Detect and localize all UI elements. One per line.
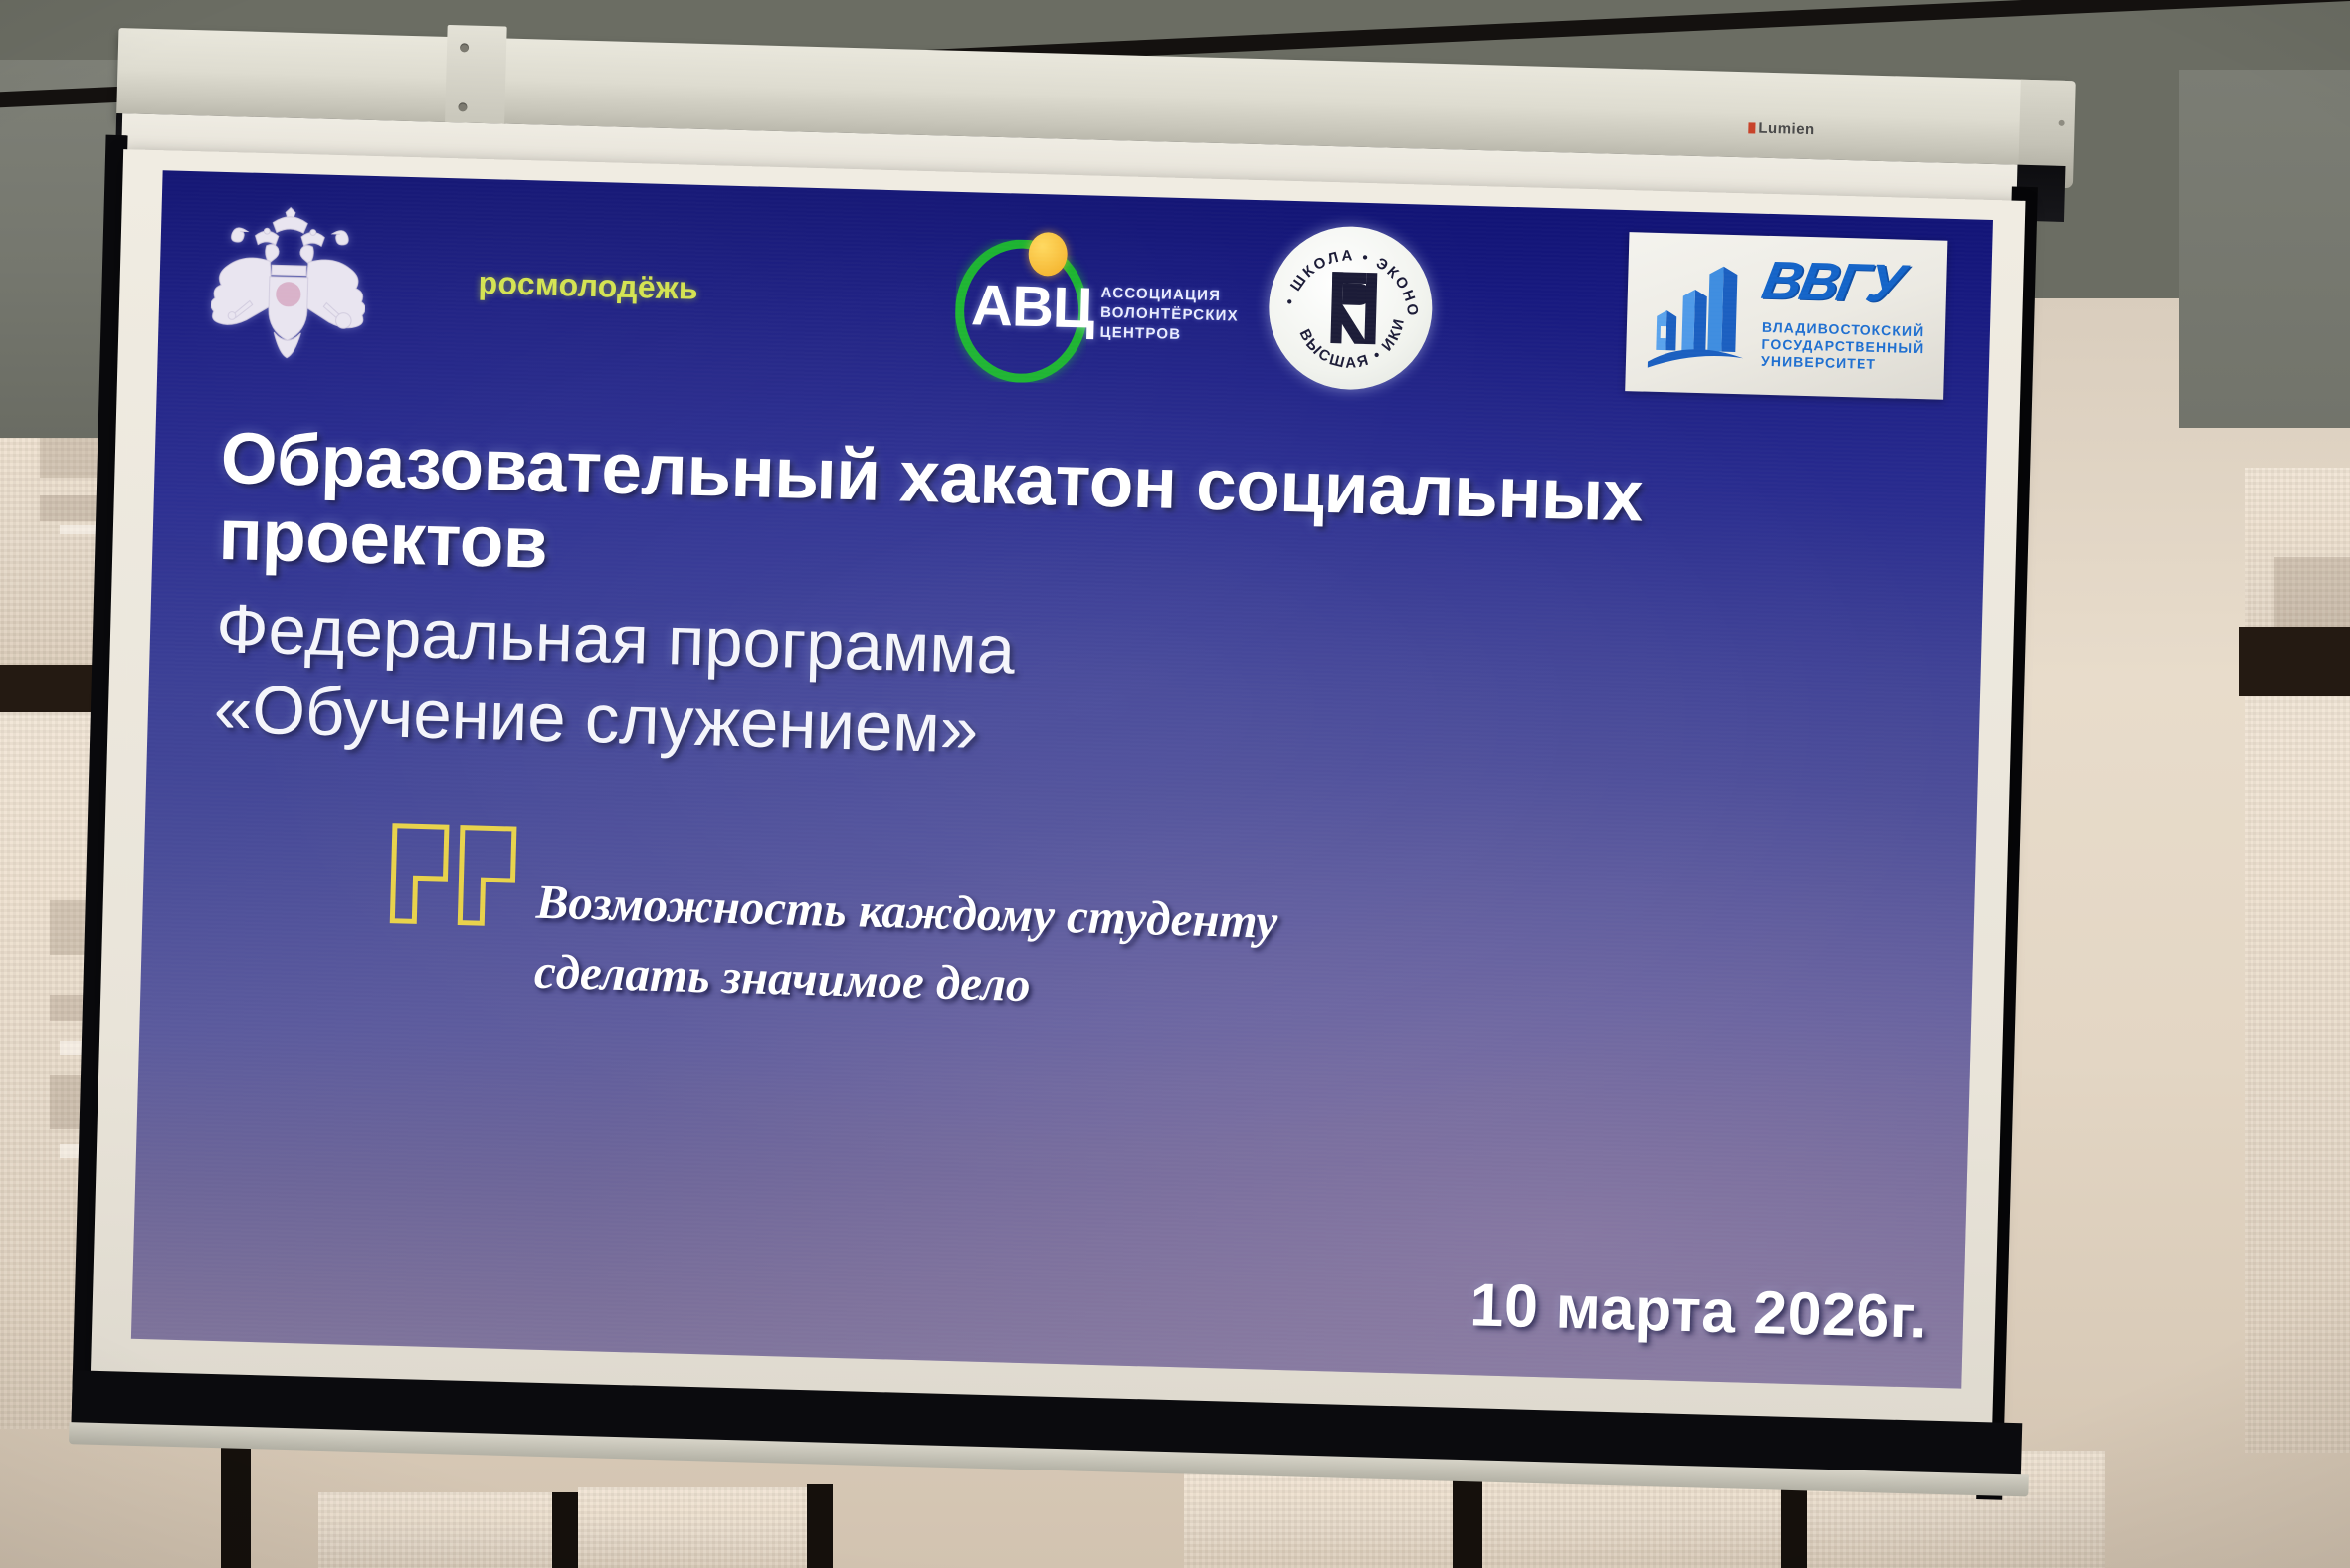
brand-mark-icon [1748, 122, 1755, 133]
screw-icon [2059, 120, 2065, 126]
hse-logo: • ШКОЛА • ЭКОНОМИКИ ВЫСШАЯ • ИКИМОНОКЭ [1267, 224, 1441, 398]
screenshot-root: Lumien [0, 0, 2350, 1568]
avc-subtitle: АССОЦИАЦИЯ ВОЛОНТЁРСКИХ ЦЕНТРОВ [1099, 284, 1239, 346]
projection-surface: росмолодёжь АВЦ АССОЦИАЦИЯ ВОЛОНТЁРСКИХ … [90, 149, 2026, 1459]
window-transom-right [2239, 627, 2350, 696]
bolt-icon [458, 102, 467, 111]
rosmolodezh-logo: росмолодёжь [478, 265, 698, 307]
presentation-slide: росмолодёжь АВЦ АССОЦИАЦИЯ ВОЛОНТЁРСКИХ … [131, 170, 1993, 1388]
window-blind-right-lower [2245, 696, 2350, 1453]
avc-letters: АВЦ [970, 272, 1094, 341]
slide-quote-block: Возможность каждому студенту сделать зна… [388, 864, 1681, 898]
coat-of-arms-icon [210, 200, 368, 363]
vvgu-wordmark: ВВГУ [1758, 250, 1908, 314]
screen-mount-bracket [445, 25, 507, 134]
slide-subtitle: Федеральная программа «Обучение служение… [213, 588, 1510, 785]
projection-screen-assembly: Lumien [78, 10, 2228, 1568]
svg-text:• ШКОЛА • ЭКОНОМИКИ: • ШКОЛА • ЭКОНОМИКИ [1267, 224, 1424, 319]
slide-date: 10 марта 2026г. [1469, 1270, 1928, 1351]
quote-mark-icon [386, 818, 530, 941]
vvgu-buildings-icon [1644, 255, 1758, 375]
rosmolodezh-wordmark: росмолодёжь [478, 265, 698, 307]
avc-sub-line3: ЦЕНТРОВ [1099, 322, 1238, 346]
lumien-brand-logo: Lumien [1748, 119, 1815, 138]
vvgu-logo: ВВГУ ВЛАДИВОСТОКСКИЙ ГОСУДАРСТВЕННЫЙ УНИ… [1625, 232, 1947, 400]
slide-quote-text: Возможность каждому студенту сделать зна… [533, 868, 1551, 1034]
brand-label: Lumien [1758, 120, 1815, 139]
vvgu-subtitle: ВЛАДИВОСТОКСКИЙ ГОСУДАРСТВЕННЫЙ УНИВЕРСИ… [1761, 319, 1925, 375]
slide-title: Образовательный хакатон социальных проек… [218, 421, 1933, 620]
logo-row: росмолодёжь АВЦ АССОЦИАЦИЯ ВОЛОНТЁРСКИХ … [158, 192, 1993, 401]
bolt-icon [460, 43, 469, 52]
